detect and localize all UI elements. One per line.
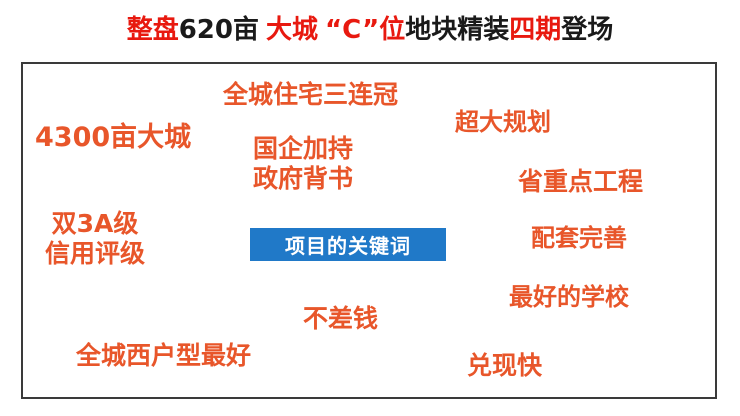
center-badge: 项目的关键词 xyxy=(250,228,446,261)
keyword-quancheng-zhuzhai-sanlianguan: 全城住宅三连冠 xyxy=(223,80,398,110)
keyword-sheng-zhongdian-gongcheng: 省重点工程 xyxy=(518,167,643,197)
keyword-bu-chaqian: 不差钱 xyxy=(303,304,378,334)
keyword-shuang3a-ji: 双3A级 xyxy=(45,209,145,239)
keyword-shuang3a-group: 双3A级 信用评级 xyxy=(45,209,145,268)
keyword-4300mu-dacheng: 4300亩大城 xyxy=(35,122,191,154)
title-segment-dacheng: 大城 xyxy=(266,15,318,45)
page-title: 整盘620亩大城“C”位地块精装四期登场 xyxy=(0,14,740,46)
keyword-zhengfu-beishu: 政府背书 xyxy=(253,164,353,194)
title-segment-zhengpan: 整盘 xyxy=(127,15,179,45)
keyword-quancheng-xihuxing-zuihao: 全城西户型最好 xyxy=(76,341,251,371)
keyword-xinyong-pingji: 信用评级 xyxy=(45,239,145,269)
keyword-frame: 全城住宅三连冠 超大规划 4300亩大城 国企加持 政府背书 省重点工程 双3A… xyxy=(21,62,717,399)
keyword-chaoda-guihua: 超大规划 xyxy=(455,108,551,136)
title-segment-dengchang: 登场 xyxy=(561,15,613,45)
center-badge-label: 项目的关键词 xyxy=(285,230,411,259)
title-segment-siqi: 四期 xyxy=(509,15,561,45)
keyword-guoqi-jiachi: 国企加持 xyxy=(253,134,353,164)
title-segment-c-quoted: “C” xyxy=(325,15,379,45)
title-segment-620mu: 620亩 xyxy=(179,15,259,45)
title-segment-dikuai-jingzhuang: 地块精装 xyxy=(405,15,509,45)
keyword-duixian-kuai: 兑现快 xyxy=(467,351,542,381)
keyword-guoqi-zhengfu-group: 国企加持 政府背书 xyxy=(253,134,353,193)
keyword-peitao-wanshan: 配套完善 xyxy=(531,224,627,252)
slide-canvas: 整盘620亩大城“C”位地块精装四期登场 全城住宅三连冠 超大规划 4300亩大… xyxy=(0,0,740,416)
title-segment-wei: 位 xyxy=(379,15,405,45)
keyword-zuihao-de-xuexiao: 最好的学校 xyxy=(509,283,629,311)
